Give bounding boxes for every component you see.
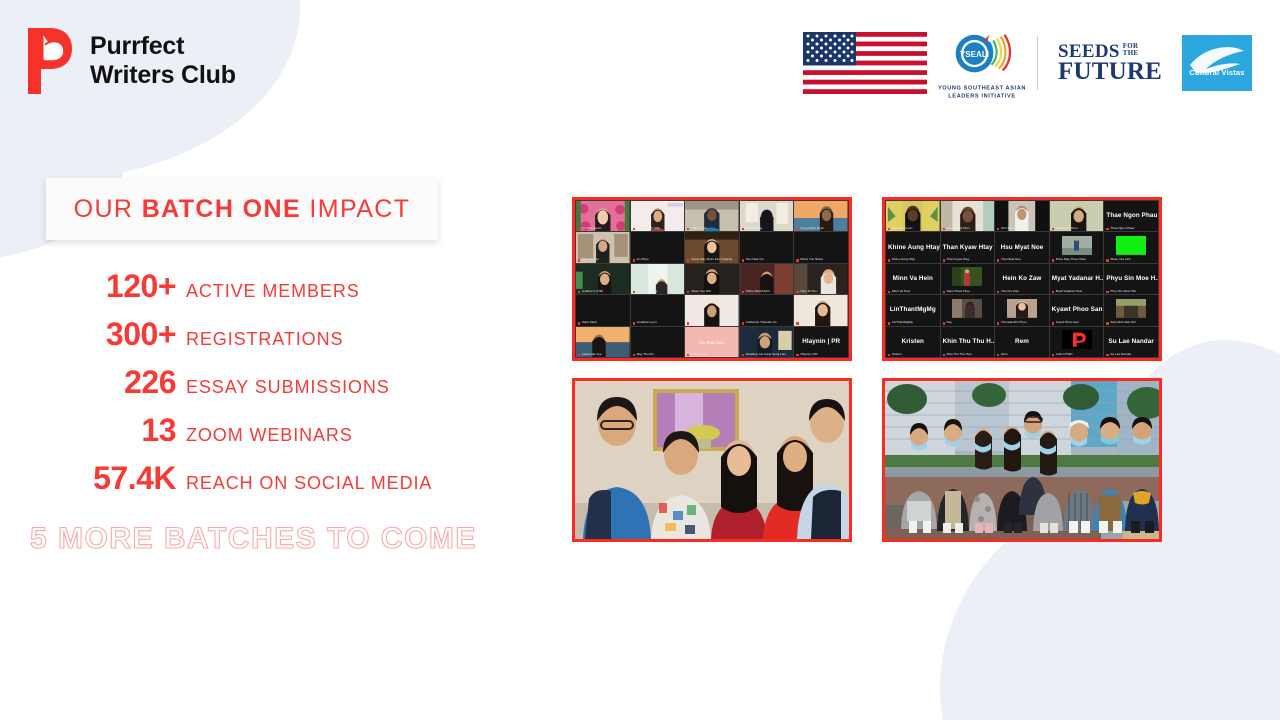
participant-name: Khin Thu Thu Han [943, 353, 993, 356]
stat-number: 57.4K [0, 462, 176, 494]
participant-name: Khine Wadi Myint [742, 290, 792, 293]
participant-name: Wai Yan Mg [578, 258, 628, 261]
page-title-highlight: BATCH ONE [142, 195, 301, 223]
zoom-tile: Jonathan Lynn [631, 295, 685, 325]
stat-number: 226 [0, 366, 176, 398]
zoom-tile: Dawlang Lar Aung Seng Lam [740, 327, 794, 357]
participant-video [1007, 299, 1037, 318]
svg-text:The Blue Door: The Blue Door [699, 340, 725, 345]
cultural-vistas-label: Cultural Vistas [1182, 68, 1252, 77]
participant-name: Zaw Moe Aung [633, 290, 683, 293]
zoom-tile: Kay [941, 295, 995, 325]
yseali-logo-subtitle: Young Southeast Asian Leaders Initiative [922, 85, 1043, 102]
participant-name: Zarni Zarni [578, 321, 628, 324]
zoom-tile: Kyawt Phoo San Kyawt Phoo San [1050, 295, 1104, 325]
participant-display-name: LinThantMgMg [886, 306, 940, 313]
stat-label: ACTIVE MEMBERS [186, 282, 360, 300]
participant-name: Kay [943, 321, 993, 324]
participant-display-name: Myat Yadanar H... [1050, 275, 1104, 282]
cultural-vistas-logo: Cultural Vistas [1182, 35, 1252, 91]
participant-name: Zin Hnin Hlaing [997, 227, 1047, 230]
zoom-tile: Kristen Kristen [886, 327, 940, 357]
zoom-tile: Hsu EainOO Phyo [995, 295, 1049, 325]
slide-canvas: Purrfect Writers Club [0, 0, 1280, 720]
participant-name: Shwe Yee Linn [1106, 258, 1156, 261]
participant-video [952, 299, 982, 318]
participant-name: Hein Ko Zaw [997, 290, 1047, 293]
participant-name: Lwanndar Aye [578, 353, 628, 356]
zoom-tile: Khin Thu Thu H... Khin Thu Thu Han [941, 327, 995, 357]
zoom-tile: Aung Myint Myat [794, 201, 848, 231]
participant-name: Catherine Thandar Oo [742, 321, 792, 324]
participant-name: Hein Si Thu [796, 290, 846, 293]
participant-name: Admin PWC [1052, 353, 1102, 356]
participant-name: Saint Thant Htoo [943, 290, 993, 293]
participant-name: Hlaynin | PR [796, 353, 846, 356]
zoom-tile: Thiri Maung [740, 201, 794, 231]
photo-card-zoom-gallery-batch-b[interactable]: Sate Khot Linn Kaung Zaw Hein [882, 197, 1162, 361]
zoom-tile: Sate Khot Linn [886, 201, 940, 231]
zoom-tile: Nyein May Myint Mom Nyaing [685, 232, 739, 262]
participant-name: Phoo May Thue Chan [1052, 258, 1102, 261]
zoom-tile: Kelly [794, 295, 848, 325]
brand-lockup: Purrfect Writers Club [24, 26, 236, 96]
stat-row: 57.4K REACH ON SOCIAL MEDIA [0, 462, 520, 494]
zoom-gallery-grid: Su Thet Aeinn Aye Thinzar Chit [575, 200, 849, 358]
participant-name: Rem [997, 353, 1047, 356]
participant-name: Than Kyaw Htay [943, 258, 993, 261]
seeds-logo-line2: FUTURE [1058, 60, 1162, 83]
cultural-vistas-swoosh-icon [1182, 35, 1252, 91]
participant-name: May Thu Zin [633, 353, 683, 356]
participant-name: Jonathan Lynn [633, 321, 683, 324]
participant-name: Kristen [888, 353, 938, 356]
participant-name: Kyawt Phoo San [1052, 321, 1102, 324]
stat-row: 13 ZOOM WEBINARS [0, 414, 520, 446]
zoom-tile: The Blue Door Khine Oppo [685, 327, 739, 357]
zoom-tile: Phoo May Thue Chan [1050, 232, 1104, 262]
participant-name: Dawlang Lar Aung Seng Lam [742, 353, 792, 356]
participant-name: Kaung Zaw Hein [943, 227, 993, 230]
participant-name: Han Nwe Oo [742, 258, 792, 261]
stat-label: ESSAY SUBMISSIONS [186, 378, 390, 396]
zoom-tile: Wai Yan Mg [576, 232, 630, 262]
participant-name: Thinzar [687, 321, 737, 324]
participant-name: Aye Thinzar Chit [633, 227, 683, 230]
participant-display-name: Thae Ngon Phau [1104, 212, 1158, 219]
participant-display-name: Than Kyaw Htay [941, 243, 995, 250]
participant-video [952, 267, 982, 286]
zoom-tile: Than Kyaw Htay Than Kyaw Htay [941, 232, 995, 262]
zoom-tile: Thae Ngon Phau Thae Ngon Phaw [1104, 201, 1158, 231]
participant-video-green-screen [1116, 236, 1146, 255]
participant-name: Khine Oppo [687, 353, 737, 356]
yseali-logo: YSEALI Young Southeast Asian Leaders Ini… [943, 31, 1021, 96]
purrfect-p-cat-logo-icon [24, 26, 76, 96]
zoom-tile: Kaung Zaw Hein [941, 201, 995, 231]
team-group-outdoor-photo [885, 381, 1159, 539]
participant-name: Khine Aung Htay [888, 258, 938, 261]
photo-card-team-group-indoor[interactable] [572, 378, 852, 542]
yseali-logo-icon: YSEALI [946, 31, 1018, 83]
participant-name: Su Thet Aeinn [578, 227, 628, 230]
zoom-tile: Minn Va Hein Minn Va Hein [886, 264, 940, 294]
participant-name: Sate Khot Linn [888, 227, 938, 230]
zoom-tile: Su Lae Nandar Su Lae Nandar [1104, 327, 1158, 357]
participant-name: Minn Va Hein [888, 290, 938, 293]
stat-label: REACH ON SOCIAL MEDIA [186, 474, 432, 492]
zoom-tile: Aye Thinzar Chit [631, 201, 685, 231]
seeds-for-the-future-logo: SEEDSFOR THE FUTURE [1054, 43, 1166, 83]
zoom-tile: Mann Yun Shine [794, 232, 848, 262]
svg-text:YSEALI: YSEALI [960, 50, 989, 59]
zoom-tile: Sant Akhi Zaw OO [1104, 295, 1158, 325]
participant-display-name: Phyu Sin Moe H... [1104, 275, 1158, 282]
participant-name: Thiha Kyaw [687, 227, 737, 230]
participant-display-name: Su Lae Nandar [1104, 338, 1158, 345]
stat-row: 120+ ACTIVE MEMBERS [0, 270, 520, 302]
stat-label: ZOOM WEBINARS [186, 426, 353, 444]
stat-label: REGISTRATIONS [186, 330, 343, 348]
seeds-logo-line1-small: FOR THE [1123, 43, 1139, 58]
participant-display-name: Hsu Myat Noe [995, 243, 1049, 250]
page-title-suffix: IMPACT [301, 195, 410, 223]
zoom-tile: Hsu Myat Noe Hsu Myat Noe [995, 232, 1049, 262]
united-states-flag-icon [803, 32, 927, 94]
zoom-tile: Han Nwe Oo [740, 232, 794, 262]
participant-name: Nyein May Myint Mom Nyaing [687, 258, 737, 261]
zoom-tile: Myat Yadanar H... Myat Yadanar Htun [1050, 264, 1104, 294]
participant-display-name: Hlaynin | PR [794, 338, 848, 345]
participant-name: Hsu EainOO Phyo [997, 321, 1047, 324]
participant-display-name: Kristen [886, 338, 940, 345]
participant-name: Phyu Sin Moe Hlel [1106, 290, 1156, 293]
zoom-tile: Admin PWC [1050, 327, 1104, 357]
participant-display-name: Khin Thu Thu H... [941, 338, 995, 345]
zoom-tile: Lin Phyo [631, 232, 685, 262]
participant-name: Thae Ngon Phaw [1106, 227, 1156, 230]
participant-name: Myatha Ye Hmu [1052, 227, 1102, 230]
zoom-tile: Catherine Thandar Oo [740, 295, 794, 325]
participant-name: Mann Yun Shine [796, 258, 846, 261]
photo-gallery: Su Thet Aeinn Aye Thinzar Chit [572, 197, 1164, 545]
team-group-indoor-photo [575, 381, 849, 539]
brand-name: Purrfect Writers Club [90, 32, 236, 90]
stat-number: 120+ [0, 270, 176, 302]
participant-name: Su Lae Nandar [1106, 353, 1156, 356]
participant-display-name: Khine Aung Htay [886, 243, 940, 250]
purrfect-p-cat-logo-icon [1062, 330, 1092, 349]
zoom-tile: Andrew C (HR) [576, 264, 630, 294]
participant-name: Lin Phyo [633, 258, 683, 261]
participant-display-name: Hein Ko Zaw [995, 275, 1049, 282]
photo-card-zoom-gallery-batch-a[interactable]: Su Thet Aeinn Aye Thinzar Chit [572, 197, 852, 361]
zoom-tile: Shwe Yee Win [685, 264, 739, 294]
zoom-tile: Thiha Kyaw [685, 201, 739, 231]
zoom-tile: Hlaynin | PR Hlaynin | PR [794, 327, 848, 357]
impact-stats-list: 120+ ACTIVE MEMBERS 300+ REGISTRATIONS 2… [0, 270, 520, 510]
participant-name: Sant Akhi Zaw OO [1106, 321, 1156, 324]
participant-name: Aung Myint Myat [796, 227, 846, 230]
stat-row: 300+ REGISTRATIONS [0, 318, 520, 350]
participant-name: LinThantMgMg [888, 321, 938, 324]
zoom-tile: Saint Thant Htoo [941, 264, 995, 294]
participant-name: Shwe Yee Win [687, 290, 737, 293]
zoom-tile: Lwanndar Aye [576, 327, 630, 357]
participant-display-name: Rem [995, 338, 1049, 345]
zoom-tile: Su Thet Aeinn [576, 201, 630, 231]
zoom-tile: Zin Hnin Hlaing [995, 201, 1049, 231]
zoom-tile: LinThantMgMg LinThantMgMg [886, 295, 940, 325]
zoom-gallery-grid: Sate Khot Linn Kaung Zaw Hein [885, 200, 1159, 358]
participant-video [1116, 299, 1146, 318]
zoom-tile: Khine Aung Htay Khine Aung Htay [886, 232, 940, 262]
zoom-tile: Phyu Sin Moe H... Phyu Sin Moe Hlel [1104, 264, 1158, 294]
zoom-tile: May Thu Zin [631, 327, 685, 357]
photo-card-team-group-outdoor[interactable] [882, 378, 1162, 542]
participant-display-name: Minn Va Hein [886, 275, 940, 282]
participant-name: Myat Yadanar Htun [1052, 290, 1102, 293]
participant-video [1062, 236, 1092, 255]
partner-logos: YSEALI Young Southeast Asian Leaders Ini… [803, 32, 1252, 94]
participant-name: Hsu Myat Noe [997, 258, 1047, 261]
stat-number: 300+ [0, 318, 176, 350]
slide-header: Purrfect Writers Club [0, 0, 1280, 120]
zoom-tile: Myatha Ye Hmu [1050, 201, 1104, 231]
stat-number: 13 [0, 414, 176, 446]
zoom-tile: Shwe Yee Linn [1104, 232, 1158, 262]
partner-divider [1037, 36, 1038, 90]
page-title-card: OUR BATCH ONE IMPACT [46, 178, 438, 240]
zoom-tile: Thinzar [685, 295, 739, 325]
participant-name: Kelly [796, 321, 846, 324]
page-title-prefix: OUR [74, 195, 142, 223]
zoom-tile: Rem Rem [995, 327, 1049, 357]
zoom-tile: Khine Wadi Myint [740, 264, 794, 294]
participant-name: Andrew C (HR) [578, 290, 628, 293]
page-title: OUR BATCH ONE IMPACT [74, 195, 411, 224]
participant-name: Thiri Maung [742, 227, 792, 230]
participant-display-name: Kyawt Phoo San [1050, 306, 1104, 313]
zoom-tile: Zarni Zarni [576, 295, 630, 325]
stat-row: 226 ESSAY SUBMISSIONS [0, 366, 520, 398]
more-batches-tagline: 5 MORE BATCHES TO COME [30, 522, 477, 556]
zoom-tile: Hein Si Thu [794, 264, 848, 294]
zoom-tile: Zaw Moe Aung [631, 264, 685, 294]
zoom-tile: Hein Ko Zaw Hein Ko Zaw [995, 264, 1049, 294]
